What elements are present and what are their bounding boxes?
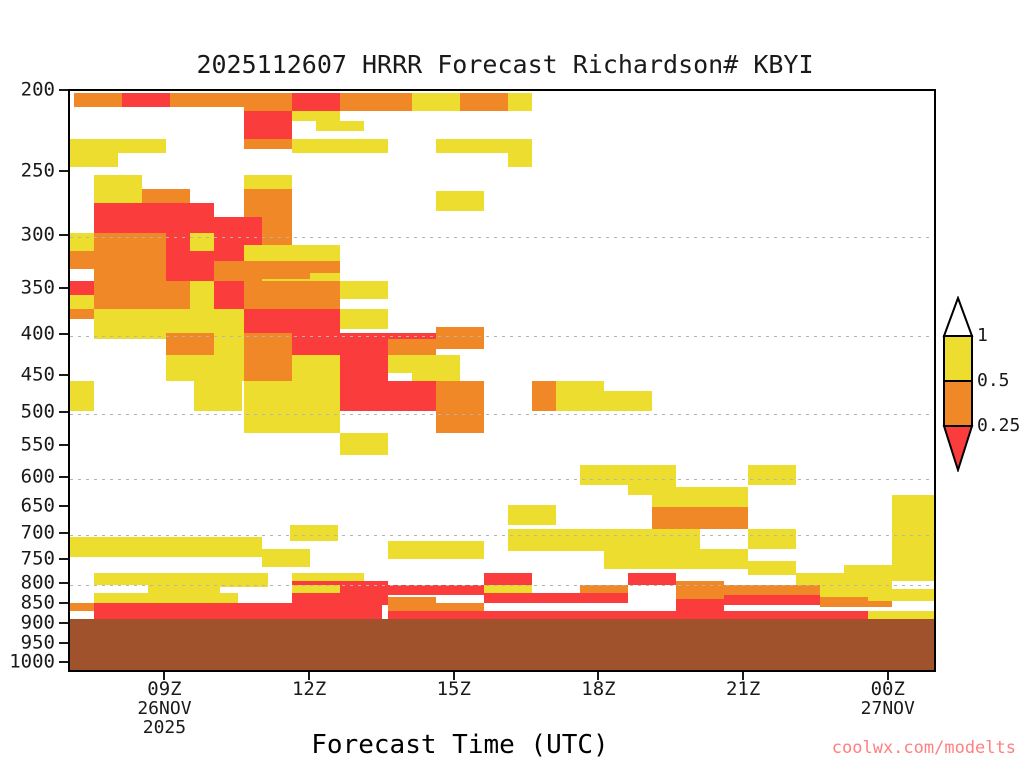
- y-tick-mark: [59, 444, 68, 446]
- page-title: 2025112607 HRRR Forecast Richardson# KBY…: [0, 50, 1010, 79]
- colorbar-tick-label: 0.25: [977, 417, 1020, 435]
- y-tick-label: 250: [21, 162, 55, 181]
- y-tick-label: 900: [21, 614, 55, 633]
- y-tick-mark: [59, 411, 68, 413]
- terrain-layer: [70, 91, 934, 670]
- y-tick-mark: [59, 558, 68, 560]
- y-tick-mark: [59, 234, 68, 236]
- x-tick-label: 15Z: [437, 680, 471, 700]
- y-tick-mark: [59, 374, 68, 376]
- y-tick-mark: [59, 661, 68, 663]
- y-tick-label: 850: [21, 594, 55, 613]
- y-tick-mark: [59, 89, 68, 91]
- x-tick-sublabel: 26NOV: [137, 700, 191, 719]
- colorbar-above-arrow: [944, 298, 972, 336]
- colorbar-bin-yellow: [944, 336, 972, 381]
- watermark: coolwx.com/modelts: [832, 738, 1016, 758]
- y-tick-mark: [59, 642, 68, 644]
- y-tick-mark: [59, 505, 68, 507]
- y-tick-mark: [59, 287, 68, 289]
- x-tick-label: 12Z: [292, 680, 326, 700]
- y-tick-label: 700: [21, 524, 55, 543]
- x-tick-sublabel: 27NOV: [861, 700, 915, 719]
- colorbar-bin-orange: [944, 381, 972, 426]
- y-tick-label: 550: [21, 436, 55, 455]
- y-tick-label: 650: [21, 497, 55, 516]
- y-tick-mark: [59, 582, 68, 584]
- y-tick-label: 1000: [9, 653, 55, 672]
- colorbar-tick-label: 0.5: [977, 372, 1010, 390]
- x-axis-title: Forecast Time (UTC): [150, 730, 770, 760]
- y-tick-mark: [59, 622, 68, 624]
- y-tick-label: 600: [21, 468, 55, 487]
- y-tick-mark: [59, 170, 68, 172]
- y-tick-label: 500: [21, 403, 55, 422]
- y-tick-label: 200: [21, 81, 55, 100]
- colorbar-bin-red: [944, 426, 972, 470]
- x-tick-label: 00Z27NOV: [861, 680, 915, 719]
- colorbar-tick-label: 1: [977, 327, 988, 345]
- y-tick-mark: [59, 602, 68, 604]
- x-tick-label: 21Z: [726, 680, 760, 700]
- y-tick-label: 300: [21, 226, 55, 245]
- y-tick-label: 350: [21, 279, 55, 298]
- y-tick-mark: [59, 476, 68, 478]
- y-tick-label: 400: [21, 325, 55, 344]
- colorbar: 10.50.25: [941, 296, 975, 472]
- plot-area: [68, 89, 936, 672]
- x-tick-label: 18Z: [581, 680, 615, 700]
- y-tick-label: 800: [21, 574, 55, 593]
- y-tick-label: 450: [21, 366, 55, 385]
- y-tick-mark: [59, 532, 68, 534]
- chart-root: 2025112607 HRRR Forecast Richardson# KBY…: [0, 0, 1024, 768]
- y-tick-mark: [59, 333, 68, 335]
- colorbar-svg: [941, 296, 975, 472]
- y-tick-label: 750: [21, 550, 55, 569]
- terrain-fill: [70, 619, 934, 672]
- y-axis: 2002503003504004505005506006507007508008…: [0, 89, 68, 672]
